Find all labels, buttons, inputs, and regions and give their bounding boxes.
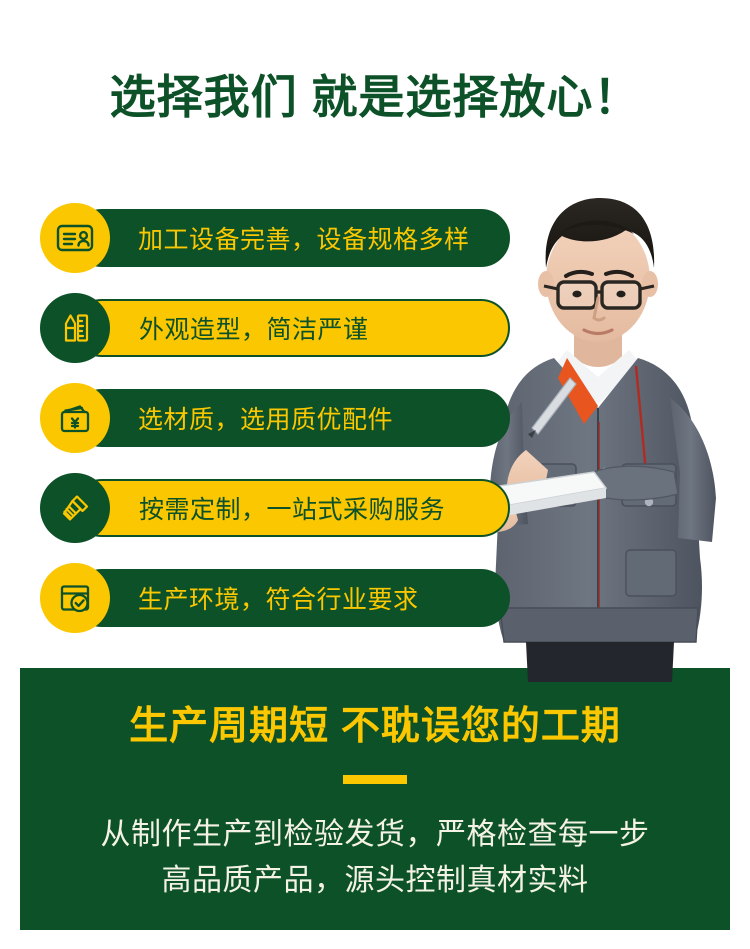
feature-pill-3[interactable]: 选材质，选用质优配件 bbox=[73, 389, 510, 447]
feature-label-5: 生产环境，符合行业要求 bbox=[138, 580, 419, 616]
banner-body: 从制作生产到检验发货，严格检查每一步 高品质产品，源头控制真材实料 bbox=[20, 812, 730, 905]
wallet-yen-icon bbox=[40, 383, 110, 453]
banner-title: 生产周期短 不耽误您的工期 bbox=[20, 706, 730, 749]
paint-brush-icon bbox=[40, 473, 110, 543]
feature-pill-1[interactable]: 加工设备完善，设备规格多样 bbox=[73, 209, 510, 267]
feature-pill-5[interactable]: 生产环境，符合行业要求 bbox=[73, 569, 510, 627]
feature-row-1[interactable]: 加工设备完善，设备规格多样 bbox=[40, 203, 640, 273]
feature-label-2: 外观造型，简洁严谨 bbox=[139, 310, 369, 346]
promo-page: 选择我们 就是选择放心！ 加工设备完善，设备规格多样 外观造型 bbox=[0, 0, 750, 949]
feature-label-1: 加工设备完善，设备规格多样 bbox=[138, 220, 470, 256]
bottom-banner: 生产周期短 不耽误您的工期 从制作生产到检验发货，严格检查每一步 高品质产品，源… bbox=[20, 668, 730, 930]
feature-list: 加工设备完善，设备规格多样 外观造型，简洁严谨 bbox=[40, 203, 640, 653]
id-card-icon bbox=[40, 203, 110, 273]
feature-row-5[interactable]: 生产环境，符合行业要求 bbox=[40, 563, 640, 633]
banner-divider bbox=[343, 775, 407, 784]
document-check-icon bbox=[40, 563, 110, 633]
feature-pill-2[interactable]: 外观造型，简洁严谨 bbox=[73, 299, 510, 357]
feature-label-4: 按需定制，一站式采购服务 bbox=[139, 490, 445, 526]
feature-pill-4[interactable]: 按需定制，一站式采购服务 bbox=[73, 479, 510, 537]
feature-label-3: 选材质，选用质优配件 bbox=[138, 400, 393, 436]
page-title: 选择我们 就是选择放心！ bbox=[0, 70, 750, 125]
banner-body-line-1: 从制作生产到检验发货，严格检查每一步 bbox=[20, 812, 730, 859]
banner-body-line-2: 高品质产品，源头控制真材实料 bbox=[20, 858, 730, 905]
feature-row-4[interactable]: 按需定制，一站式采购服务 bbox=[40, 473, 640, 543]
pencil-ruler-icon bbox=[40, 293, 110, 363]
feature-row-3[interactable]: 选材质，选用质优配件 bbox=[40, 383, 640, 453]
feature-row-2[interactable]: 外观造型，简洁严谨 bbox=[40, 293, 640, 363]
